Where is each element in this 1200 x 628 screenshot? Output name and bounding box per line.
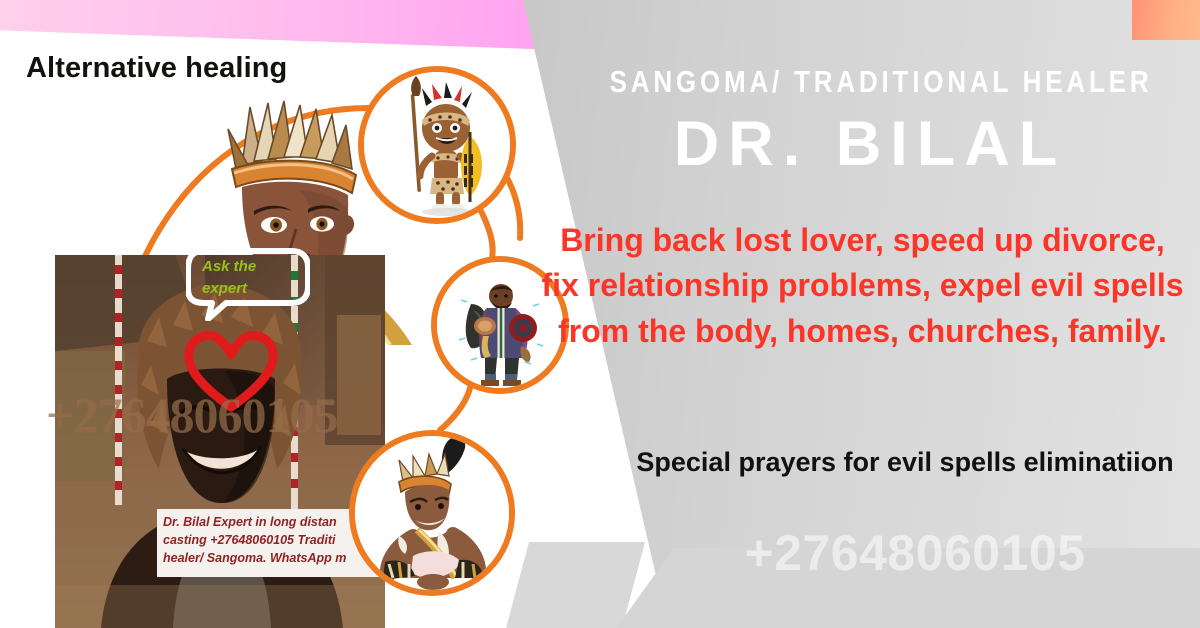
- photo-phone-overlay: +27648060105: [46, 386, 446, 444]
- brand-name: DR. BILAL: [560, 108, 1180, 180]
- caption-line-2: casting +27648060105 Traditi: [163, 532, 381, 550]
- grey-footer-shape-left: [505, 542, 645, 628]
- alternative-healing-heading: Alternative healing: [26, 52, 287, 85]
- bubble-line-2: expert: [202, 278, 302, 300]
- orange-accent-bar: [1132, 0, 1200, 40]
- zulu-warrior-cartoon-badge[interactable]: [358, 66, 516, 224]
- bubble-line-1: Ask the: [202, 256, 302, 278]
- kicker-title: SANGOMA/ TRADITIONAL HEALER: [610, 64, 1131, 100]
- ghost-phone-number: +27648060105: [640, 524, 1190, 582]
- speech-bubble-text: Ask the expert: [202, 256, 302, 300]
- poster-canvas: Alternative healing: [0, 0, 1200, 628]
- crouching-warrior-badge[interactable]: [349, 430, 515, 596]
- caption-line-3: healer/ Sangoma. WhatsApp m: [163, 550, 381, 568]
- offer-text: Special prayers for evil spells eliminat…: [620, 443, 1190, 482]
- services-text: Bring back lost lover, speed up divorce,…: [540, 218, 1185, 354]
- pink-accent-bar: [0, 0, 610, 52]
